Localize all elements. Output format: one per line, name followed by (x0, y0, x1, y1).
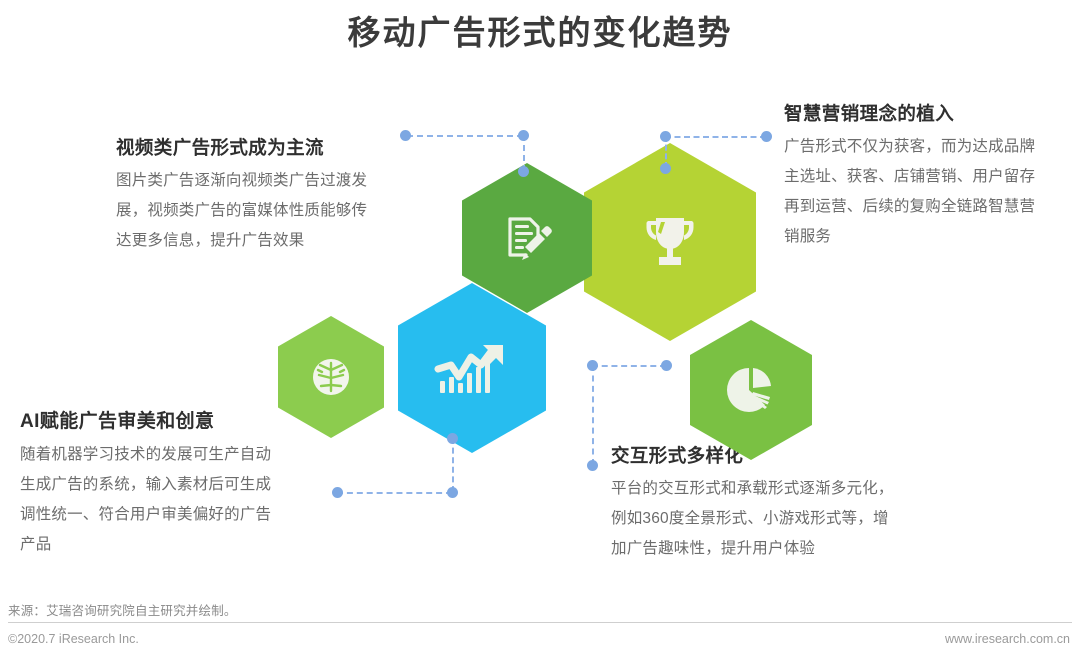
connector-dot-ai-corner (447, 487, 458, 498)
block-body-line: 图片类广告逐渐向视频类广告过渡发 (116, 166, 367, 196)
connector-dot-interact-corner (587, 360, 598, 371)
infographic-canvas: 移动广告形式的变化趋势 (0, 0, 1080, 658)
connector-dot-video-start (400, 130, 411, 141)
footer-divider (8, 622, 1072, 623)
block-body-line: 主选址、获客、店铺营销、用户留存 (784, 162, 1035, 192)
source-note: 来源：艾瑞咨询研究院自主研究并绘制。 (8, 600, 237, 619)
connector-dot-smart-corner (660, 131, 671, 142)
hexagon-leaf-network[interactable] (278, 316, 384, 438)
hexagon-pie-chart[interactable] (690, 320, 812, 460)
connector-interact-horizontal (592, 365, 666, 367)
block-body-line: 例如360度全景形式、小游戏形式等，增 (611, 504, 894, 534)
block-body-line: 展，视频类广告的富媒体性质能够传 (116, 196, 367, 226)
connector-dot-interact-end (587, 460, 598, 471)
pie-chart-icon (723, 362, 779, 418)
document-pencil-icon (498, 209, 556, 267)
text-block-interaction: 交互形式多样化 平台的交互形式和承载形式逐渐多元化， 例如360度全景形式、小游… (611, 442, 894, 564)
page-title: 移动广告形式的变化趋势 (0, 8, 1080, 58)
block-body-line: 产品 (20, 530, 271, 560)
connector-smart-horizontal (665, 136, 766, 138)
block-body-line: 平台的交互形式和承载形式逐渐多元化， (611, 474, 894, 504)
connector-dot-video-corner (518, 130, 529, 141)
block-body-line: 调性统一、符合用户审美偏好的广告 (20, 500, 271, 530)
connector-video-horizontal (407, 135, 523, 137)
block-heading-ai: AI赋能广告审美和创意 (20, 408, 271, 436)
block-body-line: 达更多信息，提升广告效果 (116, 226, 367, 256)
block-body-interaction: 平台的交互形式和承载形式逐渐多元化， 例如360度全景形式、小游戏形式等，增 加… (611, 474, 894, 564)
connector-dot-interact-hex (661, 360, 672, 371)
website-url: www.iresearch.com.cn (945, 632, 1070, 646)
trophy-icon (634, 206, 706, 278)
block-body-ai: 随着机器学习技术的发展可生产自动 生成广告的系统，输入素材后可生成 调性统一、符… (20, 440, 271, 560)
block-body-video: 图片类广告逐渐向视频类广告过渡发 展，视频类广告的富媒体性质能够传 达更多信息，… (116, 166, 367, 256)
copyright-text: ©2020.7 iResearch Inc. (8, 632, 139, 646)
connector-ai-horizontal (337, 492, 452, 494)
connector-dot-ai-hex (447, 433, 458, 444)
growth-chart-icon (434, 333, 510, 403)
block-body-line: 加广告趣味性，提升用户体验 (611, 534, 894, 564)
block-body-line: 生成广告的系统，输入素材后可生成 (20, 470, 271, 500)
connector-dot-ai-end (332, 487, 343, 498)
connector-dot-video-end (518, 166, 529, 177)
block-body-line: 再到运营、后续的复购全链路智慧营 (784, 192, 1035, 222)
block-body-line: 随着机器学习技术的发展可生产自动 (20, 440, 271, 470)
block-body-line: 销服务 (784, 222, 1035, 252)
block-body-smart-marketing: 广告形式不仅为获客，而为达成品牌 主选址、获客、店铺营销、用户留存 再到运营、后… (784, 132, 1035, 252)
leaf-network-icon (307, 353, 355, 401)
hexagon-trophy[interactable] (584, 143, 756, 341)
connector-interact-vertical (592, 365, 594, 465)
connector-dot-smart-end (761, 131, 772, 142)
text-block-ai: AI赋能广告审美和创意 随着机器学习技术的发展可生产自动 生成广告的系统，输入素… (20, 408, 271, 560)
connector-dot-smart-hex (660, 163, 671, 174)
text-block-video: 视频类广告形式成为主流 图片类广告逐渐向视频类广告过渡发 展，视频类广告的富媒体… (116, 134, 367, 256)
block-body-line: 广告形式不仅为获客，而为达成品牌 (784, 132, 1035, 162)
block-heading-video: 视频类广告形式成为主流 (116, 134, 367, 162)
connector-ai-vertical (452, 438, 454, 492)
block-heading-smart-marketing: 智慧营销理念的植入 (784, 100, 1035, 128)
text-block-smart-marketing: 智慧营销理念的植入 广告形式不仅为获客，而为达成品牌 主选址、获客、店铺营销、用… (784, 100, 1035, 252)
